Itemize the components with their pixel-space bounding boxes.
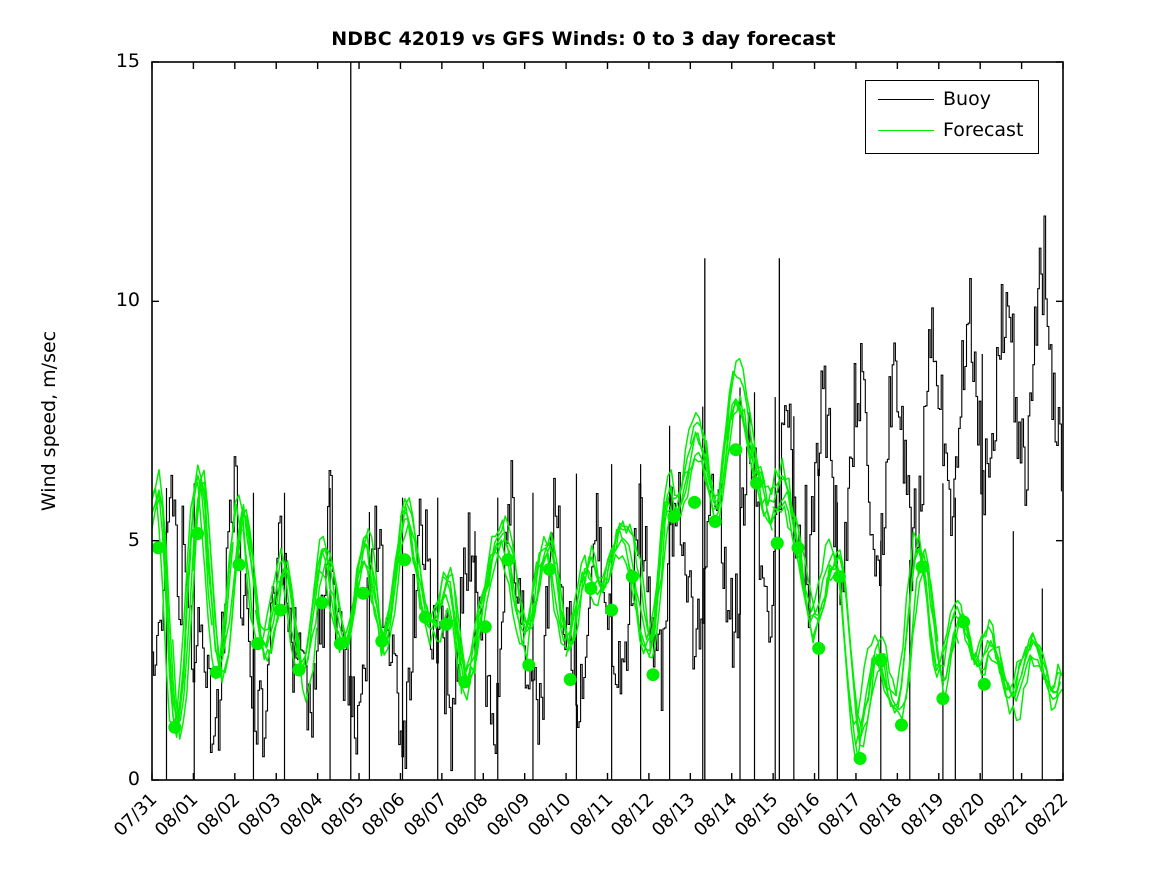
legend-item-forecast: Forecast	[878, 121, 1023, 140]
y-tick-label: 5	[80, 529, 140, 551]
series-forecast	[152, 359, 1062, 759]
y-tick-label: 0	[80, 768, 140, 790]
legend-label: Forecast	[943, 121, 1023, 140]
legend-line-swatch	[878, 130, 934, 131]
legend-item-buoy: Buoy	[878, 90, 991, 109]
series-buoy	[152, 62, 1061, 780]
legend-line-swatch	[878, 99, 934, 100]
chart-figure: NDBC 42019 vs GFS Winds: 0 to 3 day fore…	[0, 0, 1167, 875]
y-tick-label: 15	[80, 50, 140, 72]
axes-frame	[152, 62, 1063, 780]
legend: BuoyForecast	[865, 80, 1039, 154]
y-tick-label: 10	[80, 289, 140, 311]
legend-label: Buoy	[943, 90, 991, 109]
